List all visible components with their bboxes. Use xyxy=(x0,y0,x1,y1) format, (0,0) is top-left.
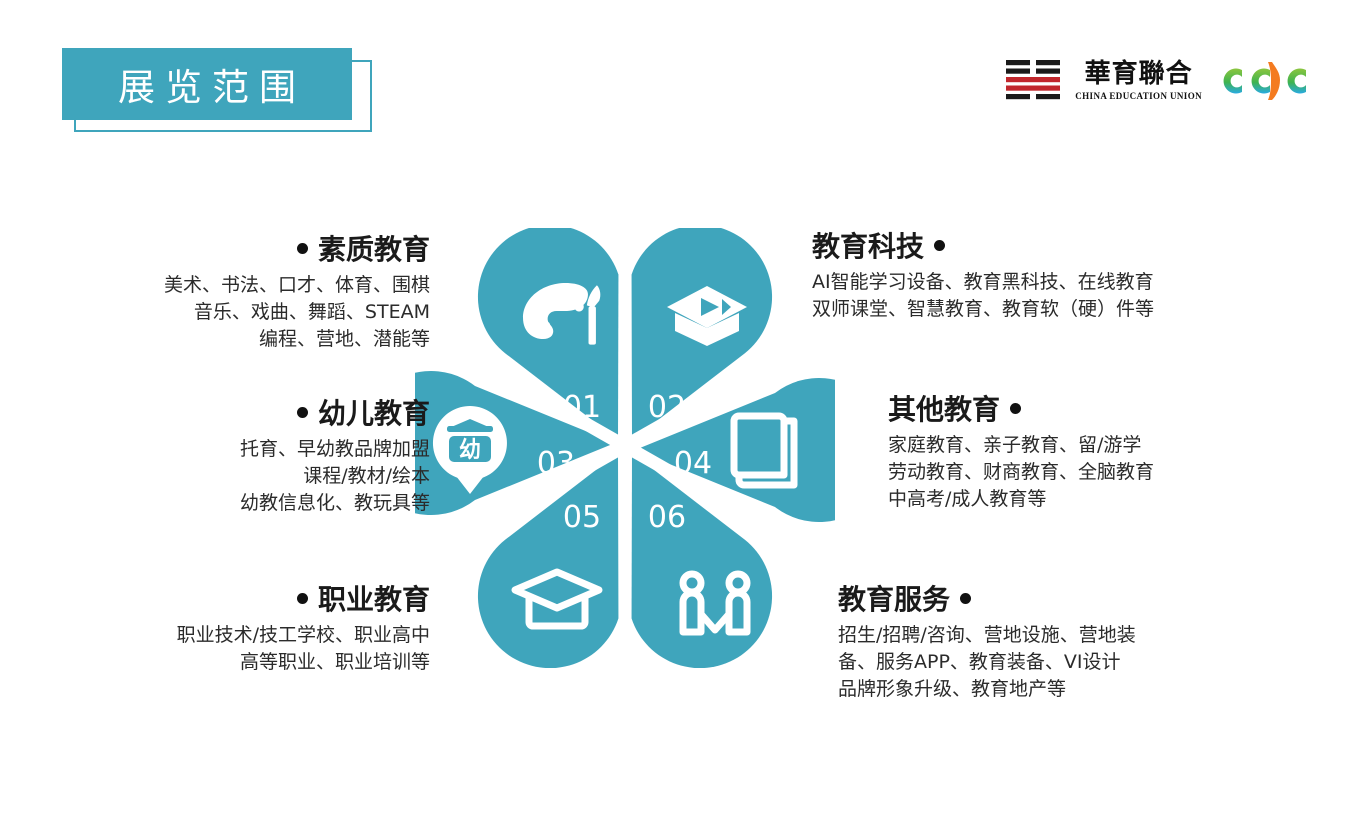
category-title: 职业教育 xyxy=(318,578,430,618)
union-text-group: 華育聯合 CHINA EDUCATION UNION xyxy=(1075,61,1202,100)
six-petal-flower-diagram: 幼 01 02 03 04 05 06 xyxy=(415,228,835,668)
category-body-keji: AI智能学习设备、教育黑科技、在线教育 双师课堂、智慧教育、教育软（硬）件等 xyxy=(812,269,1292,323)
category-title: 教育科技 xyxy=(812,225,924,265)
svg-text:幼: 幼 xyxy=(459,437,481,463)
petal-number-02: 02 xyxy=(648,390,686,425)
petal-number-06: 06 xyxy=(648,500,686,535)
body-line: 备、服务APP、教育装备、VI设计 xyxy=(838,649,1268,676)
category-heading-fuwu: 教育服务 xyxy=(838,578,1268,618)
category-body-suzhi: 美术、书法、口才、体育、围棋 音乐、戏曲、舞蹈、STEAM 编程、营地、潜能等 xyxy=(40,272,430,353)
body-line: AI智能学习设备、教育黑科技、在线教育 xyxy=(812,269,1292,296)
body-line: 品牌形象升级、教育地产等 xyxy=(838,676,1268,703)
page-title-banner: 展览范围 xyxy=(62,48,372,132)
body-line: 中高考/成人教育等 xyxy=(888,486,1308,513)
category-block-qita: 其他教育 家庭教育、亲子教育、留/游学 劳动教育、财商教育、全脑教育 中高考/成… xyxy=(888,388,1308,513)
bullet-icon xyxy=(1010,403,1021,414)
category-title: 幼儿教育 xyxy=(318,392,430,432)
petal-number-03: 03 xyxy=(537,446,575,481)
category-heading-zhiye: 职业教育 xyxy=(40,578,430,618)
category-heading-suzhi: 素质教育 xyxy=(40,228,430,268)
body-line: 课程/教材/绘本 xyxy=(40,463,430,490)
petal-number-04: 04 xyxy=(674,446,712,481)
slide-root: 展览范围 華育聯合 CHINA EDUCATION UNION xyxy=(0,0,1355,834)
body-line: 音乐、戏曲、舞蹈、STEAM xyxy=(40,299,430,326)
category-body-youer: 托育、早幼教品牌加盟 课程/教材/绘本 幼教信息化、教玩具等 xyxy=(40,436,430,517)
category-title: 素质教育 xyxy=(318,228,430,268)
bullet-icon xyxy=(297,407,308,418)
category-body-fuwu: 招生/招聘/咨询、营地设施、营地装 备、服务APP、教育装备、VI设计 品牌形象… xyxy=(838,622,1268,703)
body-line: 美术、书法、口才、体育、围棋 xyxy=(40,272,430,299)
petal-number-01: 01 xyxy=(563,390,601,425)
body-line: 招生/招聘/咨询、营地设施、营地装 xyxy=(838,622,1268,649)
petal-number-05: 05 xyxy=(563,500,601,535)
union-name-en: CHINA EDUCATION UNION xyxy=(1075,91,1202,101)
category-heading-keji: 教育科技 xyxy=(812,225,1292,265)
logo-area: 華育聯合 CHINA EDUCATION UNION xyxy=(1006,58,1310,104)
bullet-icon xyxy=(297,243,308,254)
body-line: 家庭教育、亲子教育、留/游学 xyxy=(888,432,1308,459)
cec-logo-icon xyxy=(1218,58,1310,104)
body-line: 双师课堂、智慧教育、教育软（硬）件等 xyxy=(812,296,1292,323)
category-title: 教育服务 xyxy=(838,578,950,618)
body-line: 高等职业、职业培训等 xyxy=(40,649,430,676)
bullet-icon xyxy=(934,240,945,251)
category-heading-qita: 其他教育 xyxy=(888,388,1308,428)
category-block-zhiye: 职业教育 职业技术/技工学校、职业高中 高等职业、职业培训等 xyxy=(40,578,430,676)
category-block-keji: 教育科技 AI智能学习设备、教育黑科技、在线教育 双师课堂、智慧教育、教育软（硬… xyxy=(812,225,1292,323)
hexagram-bars-mark-icon xyxy=(1006,59,1066,103)
body-line: 幼教信息化、教玩具等 xyxy=(40,490,430,517)
body-line: 劳动教育、财商教育、全脑教育 xyxy=(888,459,1308,486)
page-title: 展览范围 xyxy=(62,48,352,120)
category-title: 其他教育 xyxy=(888,388,1000,428)
category-body-qita: 家庭教育、亲子教育、留/游学 劳动教育、财商教育、全脑教育 中高考/成人教育等 xyxy=(888,432,1308,513)
category-block-youer: 幼儿教育 托育、早幼教品牌加盟 课程/教材/绘本 幼教信息化、教玩具等 xyxy=(40,392,430,517)
category-block-suzhi: 素质教育 美术、书法、口才、体育、围棋 音乐、戏曲、舞蹈、STEAM 编程、营地… xyxy=(40,228,430,353)
category-body-zhiye: 职业技术/技工学校、职业高中 高等职业、职业培训等 xyxy=(40,622,430,676)
bullet-icon xyxy=(960,593,971,604)
bullet-icon xyxy=(297,593,308,604)
category-heading-youer: 幼儿教育 xyxy=(40,392,430,432)
body-line: 编程、营地、潜能等 xyxy=(40,326,430,353)
china-education-union-logo: 華育聯合 CHINA EDUCATION UNION xyxy=(1006,59,1202,103)
body-line: 托育、早幼教品牌加盟 xyxy=(40,436,430,463)
union-name-cn: 華育聯合 xyxy=(1085,61,1193,88)
body-line: 职业技术/技工学校、职业高中 xyxy=(40,622,430,649)
category-block-fuwu: 教育服务 招生/招聘/咨询、营地设施、营地装 备、服务APP、教育装备、VI设计… xyxy=(838,578,1268,703)
